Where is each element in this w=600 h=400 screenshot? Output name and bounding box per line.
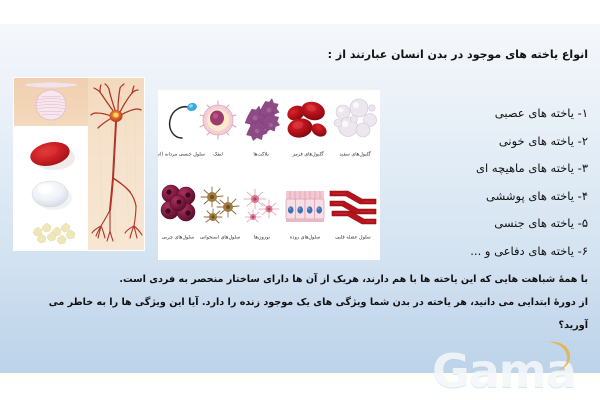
- sperm-icon: [158, 94, 198, 150]
- diagram-label: سلول‌های چربی: [158, 233, 205, 241]
- blood-cells-photo-group: [14, 126, 88, 250]
- muscle-fiber-photo: [14, 78, 88, 126]
- lymphocyte-icon: [198, 94, 238, 150]
- list-item: ۱- یاخته های عصبی: [318, 100, 588, 128]
- muscle-fiber-illustration-icon: [14, 78, 88, 126]
- diagram-cell-platelets: پلاکت‌ها: [238, 94, 284, 156]
- diagram-cell-lymphocyte: لنفک: [198, 94, 238, 156]
- diagram-label: سلول جنسی مردانه (اسپرم): [158, 150, 205, 158]
- neuron-photo: [88, 78, 144, 250]
- diagram-cell-neurons: نورون‌ها: [242, 177, 282, 239]
- page-title: انواع یاخته های موجود در بدن انسان عبارت…: [322, 47, 588, 63]
- platelets-icon: [238, 94, 284, 150]
- list-item: ۴- یاخته های پوششی: [318, 183, 588, 211]
- photo-collage: [14, 78, 144, 250]
- neuron-illustration-icon: [88, 78, 144, 250]
- background-bottom-strip: [0, 373, 600, 400]
- list-item: ۳- یاخته های ماهیچه ای: [318, 155, 588, 183]
- diagram-cell-bone: سلول‌های استخوانی: [198, 177, 242, 239]
- paragraph-line: از دورهٔ ابتدایی می دانید، هر یاخته در ب…: [12, 291, 588, 314]
- paragraph-line: با همهٔ شباهت هایی که این یاخته ها با هم…: [12, 268, 588, 291]
- diagram-cell-fat: سلول‌های چربی: [158, 177, 198, 239]
- background-top-strip: [0, 0, 600, 24]
- neurons-icon: [242, 177, 282, 233]
- diagram-cell-sperm: سلول جنسی مردانه (اسپرم): [158, 94, 198, 156]
- fat-cells-icon: [158, 177, 198, 233]
- bone-cells-icon: [198, 177, 242, 233]
- list-item: ۲- یاخته های خونی: [318, 128, 588, 156]
- body-paragraph: با همهٔ شباهت هایی که این یاخته ها با هم…: [12, 268, 588, 337]
- slide-canvas: گلبول‌های سفید: [0, 0, 600, 400]
- cell-types-list: ۱- یاخته های عصبی ۲- یاخته های خونی ۳- ی…: [318, 100, 588, 265]
- blood-cells-illustration-icon: [14, 126, 88, 250]
- paragraph-line: آورید؟: [12, 314, 588, 337]
- list-item: ۶- یاخته های دفاعی و ...: [318, 238, 588, 266]
- list-item: ۵- یاخته های جنسی: [318, 210, 588, 238]
- collage-right-column: [14, 78, 88, 250]
